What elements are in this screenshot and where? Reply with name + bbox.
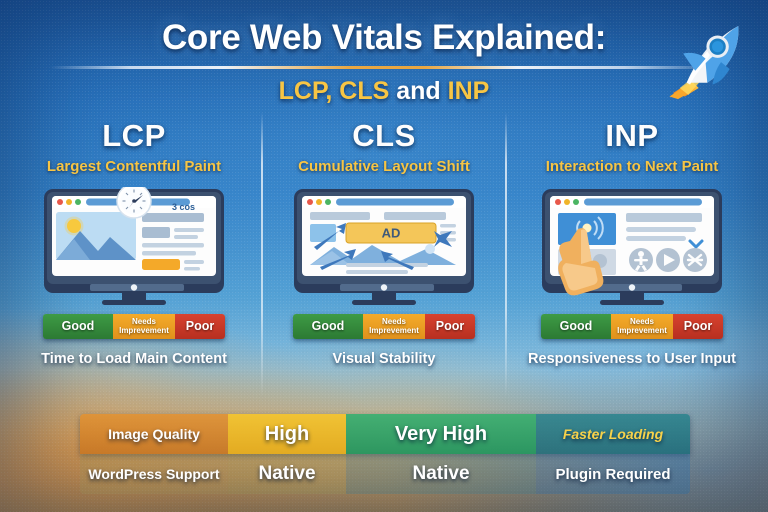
column-inp-code: INP bbox=[510, 118, 754, 154]
column-lcp: LCP Largest Contentful Paint bbox=[12, 118, 256, 367]
inp-rating-needs-line2: Imprevement bbox=[617, 326, 667, 335]
lcp-rating-needs-line2: Imprevement bbox=[119, 326, 169, 335]
column-cls-code: CLS bbox=[262, 118, 506, 154]
cell-wordpress-support-inp: Plugin Required bbox=[536, 454, 690, 494]
row-label-image-quality: Image Quality bbox=[80, 414, 228, 454]
cls-rating-bar: Good NeedsImprevement Poor bbox=[293, 314, 475, 339]
cls-illustration: AD bbox=[262, 187, 506, 305]
cls-rating-needs-improvement: NeedsImprevement bbox=[363, 314, 425, 339]
lcp-caption: Time to Load Main Content bbox=[12, 351, 256, 367]
lcp-rating-bar: Good NeedsImprevement Poor bbox=[43, 314, 225, 339]
comparison-table: Image Quality High Very High Faster Load… bbox=[80, 414, 690, 494]
column-inp-name: Interaction to Next Paint bbox=[510, 158, 754, 175]
page-subtitle: LCP, CLS and INP bbox=[0, 77, 768, 106]
inp-rating-poor: Poor bbox=[673, 314, 723, 339]
inp-rating-needs-improvement: NeedsImprevement bbox=[611, 314, 673, 339]
rocket-icon bbox=[666, 14, 752, 100]
subtitle-part-inp: INP bbox=[448, 77, 490, 105]
subtitle-part-and: and bbox=[389, 77, 447, 105]
cell-image-quality-lcp: High bbox=[228, 414, 346, 454]
lcp-rating-needs-improvement: NeedsImprevement bbox=[113, 314, 175, 339]
subtitle-part-lcp-cls: LCP, CLS bbox=[279, 77, 390, 105]
infographic-canvas: Core Web Vitals Explained: LCP, CLS and … bbox=[0, 0, 768, 512]
column-cls: CLS Cumulative Layout Shift AD bbox=[262, 118, 506, 367]
cls-rating-needs-line2: Imprevement bbox=[369, 326, 419, 335]
svg-text:3 cos: 3 cos bbox=[172, 202, 195, 212]
lcp-illustration: 3 cos bbox=[12, 187, 256, 305]
title-divider-rule bbox=[50, 66, 718, 69]
column-lcp-code: LCP bbox=[12, 118, 256, 154]
cell-image-quality-inp: Faster Loading bbox=[536, 414, 690, 454]
column-cls-name: Cumulative Layout Shift bbox=[262, 158, 506, 175]
cls-rating-good: Good bbox=[293, 314, 363, 339]
cls-caption: Visual Stability bbox=[262, 351, 506, 367]
table-row-wordpress-support: WordPress Support Native Native Plugin R… bbox=[80, 454, 690, 494]
column-inp: INP Interaction to Next Paint bbox=[510, 118, 754, 367]
column-lcp-name: Largest Contentful Paint bbox=[12, 158, 256, 175]
page-title: Core Web Vitals Explained: bbox=[0, 18, 768, 58]
row-label-wordpress-support: WordPress Support bbox=[80, 454, 228, 494]
cell-wordpress-support-lcp: Native bbox=[228, 454, 346, 494]
svg-text:AD: AD bbox=[382, 226, 401, 241]
lcp-rating-poor: Poor bbox=[175, 314, 225, 339]
inp-rating-good: Good bbox=[541, 314, 611, 339]
table-row-image-quality: Image Quality High Very High Faster Load… bbox=[80, 414, 690, 454]
inp-caption: Responsiveness to User Input bbox=[510, 351, 754, 367]
lcp-rating-good: Good bbox=[43, 314, 113, 339]
inp-rating-bar: Good NeedsImprevement Poor bbox=[541, 314, 723, 339]
inp-illustration bbox=[510, 187, 754, 305]
cell-image-quality-cls: Very High bbox=[346, 414, 536, 454]
cls-rating-poor: Poor bbox=[425, 314, 475, 339]
cell-wordpress-support-cls: Native bbox=[346, 454, 536, 494]
